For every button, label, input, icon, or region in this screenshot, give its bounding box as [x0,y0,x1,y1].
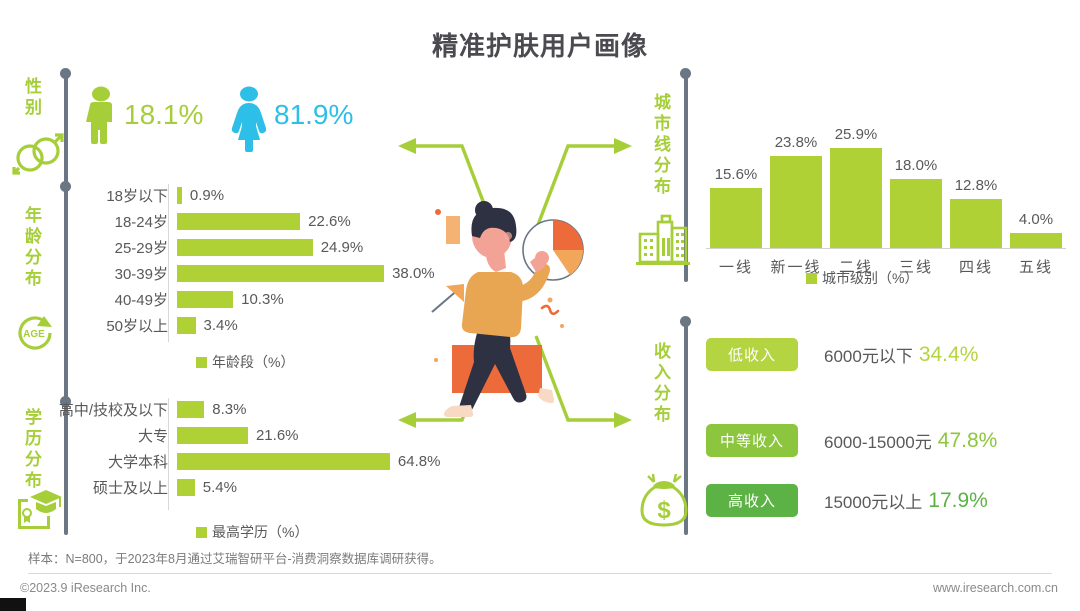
bar-value-label: 22.6% [308,213,351,230]
bar-segment [950,199,1002,248]
legend-swatch [806,273,817,284]
bar-column: 12.8% [946,177,1006,248]
arrow-head-bottom-left [398,412,416,428]
chart-legend: 城市级别（%） [806,268,918,288]
male-figure-icon [82,86,120,144]
bar-segment [890,179,942,248]
bar-segment [177,239,313,256]
age-circle-icon: AGE [10,307,62,357]
legend-label: 最高学历（%） [212,522,308,542]
arrow-head-top-right [614,138,632,154]
female-percentage: 81.9% [274,99,353,131]
chart-legend: 最高学历（%） [196,522,308,542]
rail-dot-gender [60,68,71,79]
bar-column: 23.8% [766,134,826,248]
chart-legend: 年龄段（%） [196,352,294,372]
svg-text:$: $ [657,497,671,524]
bar-segment [177,265,384,282]
bar-row: 25-29岁24.9% [60,236,435,258]
bar-segment [177,187,182,204]
bar-category-label: 50岁以上 [60,315,177,336]
bar-value-label: 3.4% [204,317,238,334]
bar-columns: 15.6%23.8%25.9%18.0%12.8%4.0% [706,126,1066,248]
gender-male-stat: 18.1% [82,86,203,144]
bar-segment [177,453,390,470]
bar-segment [770,156,822,248]
income-tag-label: 低收入 [728,344,776,365]
bar-category-label: 18岁以下 [60,185,177,206]
bar-segment [177,291,233,308]
bar-value-label: 18.0% [895,157,938,174]
bar-segment [177,317,196,334]
bar-column: 15.6% [706,166,766,248]
bar-category-label: 大专 [30,425,177,446]
bar-value-label: 23.8% [775,134,818,151]
income-pct-low: 34.4% [919,343,979,367]
income-tag-label: 高收入 [728,490,776,511]
age-bar-chart: 18岁以下0.9%18-24岁22.6%25-29岁24.9%30-39岁38.… [60,184,435,340]
bar-category-label: 高中/技校及以下 [30,399,177,420]
bar-row: 高中/技校及以下8.3% [30,398,440,420]
rail-dot-city [680,68,691,79]
income-tag-mid: 中等收入 [706,424,798,457]
income-tag-high: 高收入 [706,484,798,517]
income-tag-label: 中等收入 [720,430,784,451]
rail-dot-income [680,316,691,327]
section-label-income: 收入分布 [645,330,669,438]
income-range-high: 15000元以上 [824,488,922,513]
income-row-high: 高收入 15000元以上 17.9% [706,484,988,517]
bar-value-label: 15.6% [715,166,758,183]
bar-row: 40-49岁10.3% [60,288,435,310]
city-bar-chart: 15.6%23.8%25.9%18.0%12.8%4.0%一线新一线二线三线四线… [706,74,1066,282]
bar-value-label: 12.8% [955,177,998,194]
bar-value-label: 5.4% [203,479,237,496]
section-label-gender: 性别 [16,72,40,124]
source-note: 样本：N=800，于2023年8月通过艾瑞智研平台-消费洞察数据库调研获得。 [28,548,442,567]
bar-value-label: 0.9% [190,187,224,204]
gender-symbols-icon [12,128,66,178]
page-title: 精准护肤用户画像 [0,26,1080,63]
section-label-age: 年龄分布 [16,196,40,300]
income-row-mid: 中等收入 6000-15000元 47.8% [706,424,997,457]
bar-column: 4.0% [1006,211,1066,248]
income-range-low: 6000元以下 [824,342,913,367]
center-illustration-woman-with-pie-chart [430,200,610,425]
corner-marker [0,598,26,611]
bar-segment [830,148,882,248]
bar-row: 50岁以上3.4% [60,314,435,336]
legend-label: 城市级别（%） [822,268,918,288]
income-tag-low: 低收入 [706,338,798,371]
bar-segment [177,479,195,496]
bar-segment [710,188,762,248]
bar-category-label: 大学本科 [30,451,177,472]
legend-swatch [196,527,207,538]
copyright-text: ©2023.9 iResearch Inc. [20,581,151,595]
footer-divider [28,573,1052,574]
bar-segment [177,401,204,418]
bar-category-label: 18-24岁 [60,211,177,232]
bar-category-label: 一线 [706,256,766,277]
bar-column: 25.9% [826,126,886,248]
section-label-city: 城市线分布 [645,80,669,210]
income-range-mid: 6000-15000元 [824,428,932,453]
bar-category-label: 25-29岁 [60,237,177,258]
bar-row: 大学本科64.8% [30,450,440,472]
income-pct-high: 17.9% [928,489,988,513]
bar-value-label: 24.9% [321,239,364,256]
bar-value-label: 21.6% [256,427,299,444]
legend-label: 年龄段（%） [212,352,294,372]
bar-value-label: 10.3% [241,291,284,308]
svg-text:AGE: AGE [23,329,45,340]
bar-value-label: 4.0% [1019,211,1053,228]
bar-segment [177,427,248,444]
bar-category-label: 五线 [1006,256,1066,277]
bar-row: 18-24岁22.6% [60,210,435,232]
female-figure-icon [228,86,270,144]
bar-row: 18岁以下0.9% [60,184,435,206]
chart-baseline [706,248,1066,249]
money-bag-icon: $ [638,473,690,527]
arrow-head-bottom-right [614,412,632,428]
bar-category-label: 30-39岁 [60,263,177,284]
bar-category-label: 硕士及以上 [30,477,177,498]
city-buildings-icon [636,216,690,268]
bar-row: 硕士及以上5.4% [30,476,440,498]
bar-value-label: 25.9% [835,126,878,143]
income-pct-mid: 47.8% [938,429,998,453]
education-bar-chart: 高中/技校及以下8.3%大专21.6%大学本科64.8%硕士及以上5.4% [30,398,440,502]
bar-category-label: 四线 [946,256,1006,277]
bar-row: 大专21.6% [30,424,440,446]
gender-female-stat: 81.9% [228,86,353,144]
bar-category-label: 40-49岁 [60,289,177,310]
bar-row: 30-39岁38.0% [60,262,435,284]
income-row-low: 低收入 6000元以下 34.4% [706,338,978,371]
bar-column: 18.0% [886,157,946,248]
bar-segment [1010,233,1062,248]
website-url: www.iresearch.com.cn [933,581,1058,595]
bar-segment [177,213,300,230]
male-percentage: 18.1% [124,99,203,131]
infographic-page: 精准护肤用户画像 性别 18.1% [0,0,1080,611]
bar-value-label: 8.3% [212,401,246,418]
arrow-head-top-left [398,138,416,154]
legend-swatch [196,357,207,368]
